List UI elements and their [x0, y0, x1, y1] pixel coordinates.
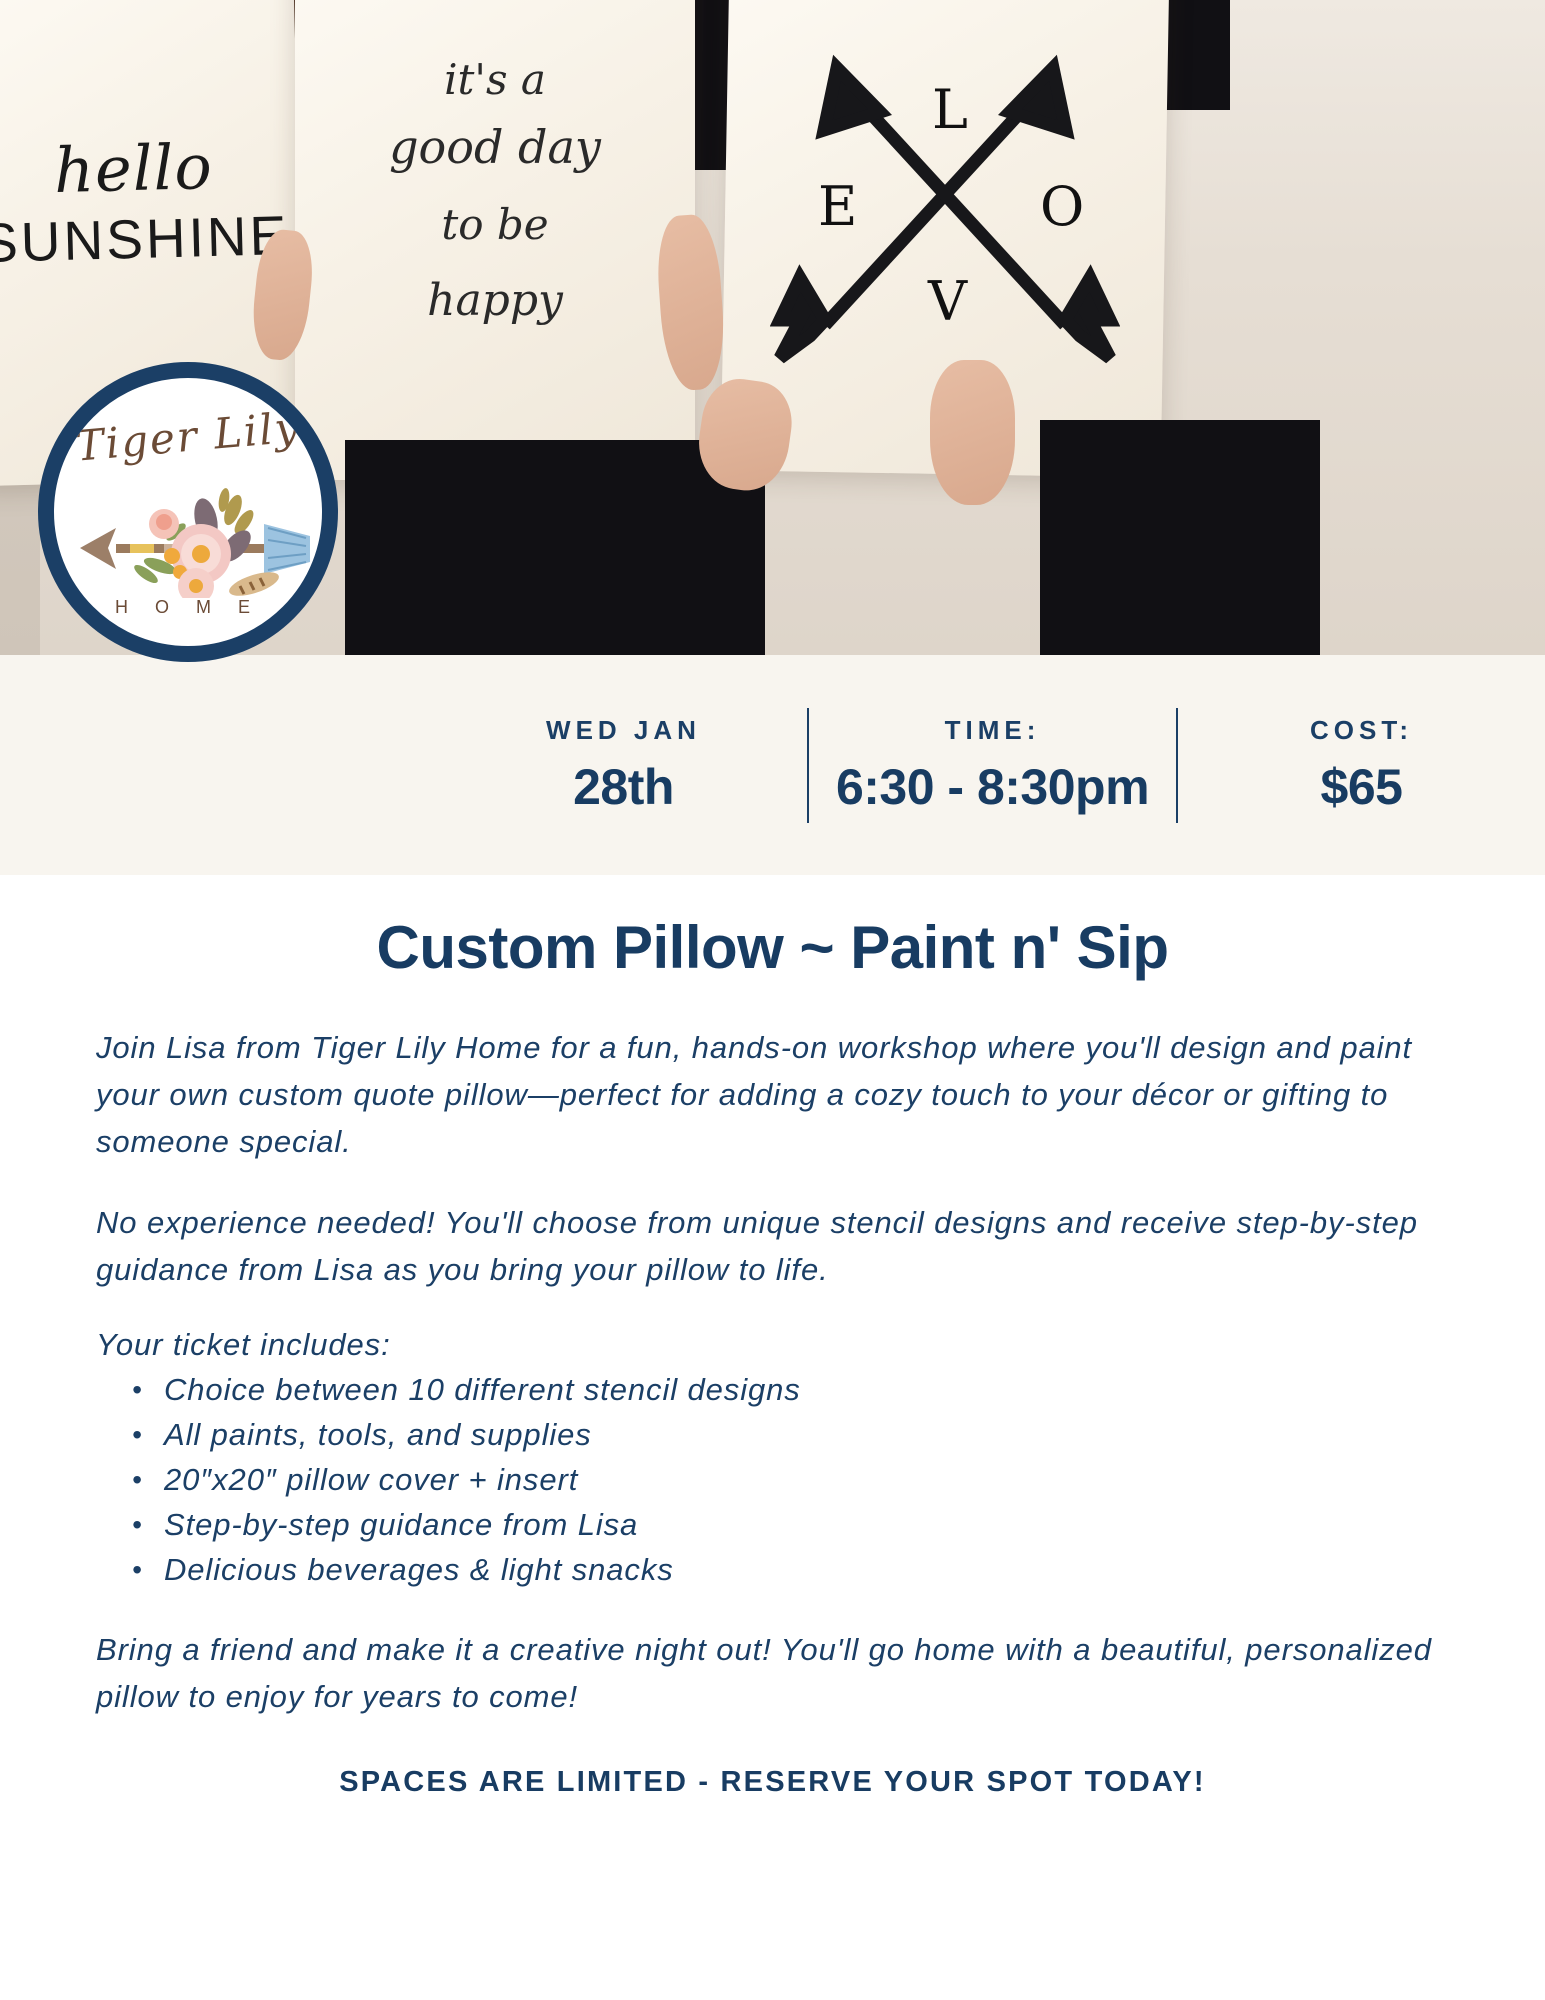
- love-letter-v: V: [928, 270, 967, 333]
- love-letter-l: L: [932, 78, 968, 141]
- time-label: TIME:: [809, 715, 1176, 746]
- list-item: Step-by-step guidance from Lisa: [124, 1502, 1449, 1547]
- hand-right: [930, 360, 1015, 505]
- list-item: 20″x20″ pillow cover + insert: [124, 1457, 1449, 1502]
- cta-text: SPACES ARE LIMITED - RESERVE YOUR SPOT T…: [96, 1766, 1449, 1799]
- body-copy: Join Lisa from Tiger Lily Home for a fun…: [0, 1024, 1545, 1799]
- time-value: 6:30 - 8:30pm: [809, 758, 1176, 816]
- pillow-text-line1: it's a: [295, 55, 695, 104]
- love-letter-o: O: [1040, 175, 1084, 238]
- pillow-text-line2: good day: [295, 120, 695, 174]
- love-letter-e: E: [818, 175, 857, 238]
- date-value: 28th: [440, 758, 807, 816]
- cost-label: COST:: [1178, 715, 1545, 746]
- pillow-text-sunshine: SUNSHINE: [0, 203, 301, 276]
- floral-arrow-icon: [68, 488, 310, 598]
- info-cell-time: TIME: 6:30 - 8:30pm: [809, 715, 1176, 816]
- pillow-text-line3: to be: [295, 200, 695, 249]
- brand-script-text: Tiger Lily: [52, 400, 323, 472]
- list-item: Delicious beverages & light snacks: [124, 1547, 1449, 1592]
- pillow-text-hello: hello: [0, 128, 299, 210]
- list-item: All paints, tools, and supplies: [124, 1412, 1449, 1457]
- cost-value: $65: [1178, 758, 1545, 816]
- list-item: Choice between 10 different stencil desi…: [124, 1367, 1449, 1412]
- pillow-text-line4: happy: [295, 275, 695, 326]
- hero-background-dark: [1160, 0, 1230, 110]
- paragraph-experience: No experience needed! You'll choose from…: [96, 1199, 1449, 1293]
- hero-lower-dark-2: [1040, 420, 1320, 655]
- hero-lower-dark-1: [345, 440, 765, 655]
- info-cell-group: WED JAN 28th TIME: 6:30 - 8:30pm COST: $…: [440, 655, 1545, 875]
- date-label: WED JAN: [440, 715, 807, 746]
- page-title: Custom Pillow ~ Paint n' Sip: [0, 913, 1545, 982]
- love-arrow-graphic: L O E V: [770, 20, 1120, 380]
- info-cell-date: WED JAN 28th: [440, 715, 807, 816]
- ticket-includes-list: Choice between 10 different stencil desi…: [124, 1367, 1449, 1592]
- flyer-body: Custom Pillow ~ Paint n' Sip Join Lisa f…: [0, 875, 1545, 2000]
- brand-home-text: H O M E: [54, 597, 322, 618]
- event-info-bar: WED JAN 28th TIME: 6:30 - 8:30pm COST: $…: [0, 655, 1545, 875]
- brand-logo-badge: Tiger Lily: [38, 362, 338, 662]
- ticket-includes-heading: Your ticket includes:: [96, 1327, 1449, 1363]
- paragraph-closing: Bring a friend and make it a creative ni…: [96, 1626, 1449, 1720]
- info-cell-cost: COST: $65: [1178, 715, 1545, 816]
- pillow-good-day: it's a good day to be happy: [295, 0, 695, 480]
- paragraph-intro: Join Lisa from Tiger Lily Home for a fun…: [96, 1024, 1449, 1165]
